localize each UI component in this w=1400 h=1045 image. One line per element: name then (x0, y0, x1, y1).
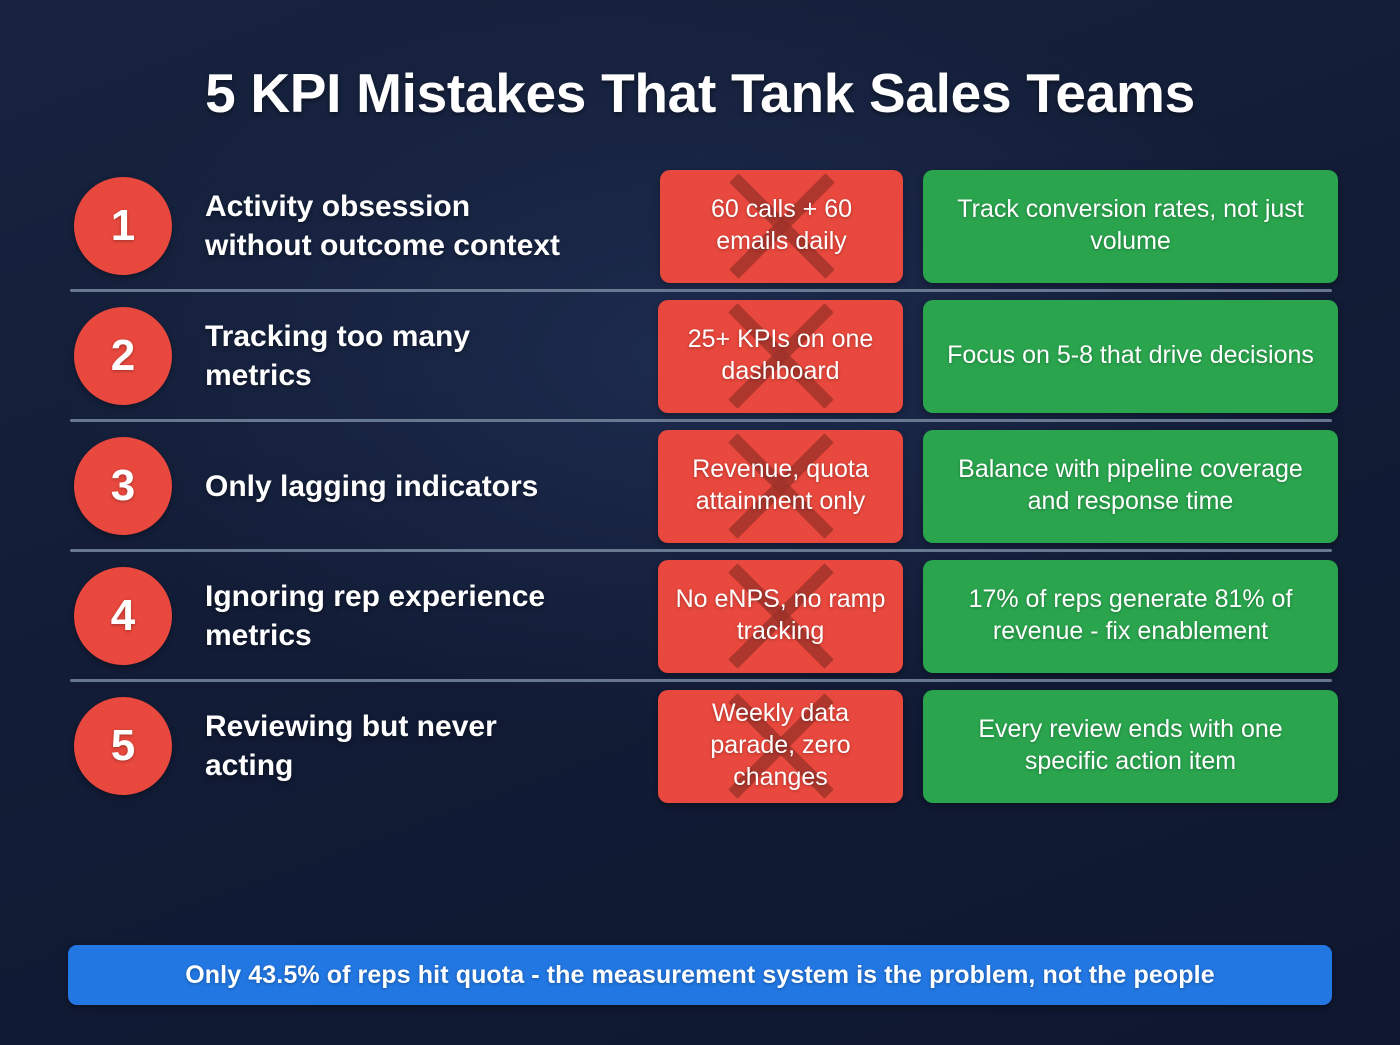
mistake-title-4: Ignoring rep experience metrics (205, 577, 585, 655)
mistake-title-1: Activity obsession without outcome conte… (205, 187, 585, 265)
good-practice-card-2: Focus on 5-8 that drive decisions (923, 300, 1338, 413)
bad-practice-card-5: Weekly data parade, zero changes (658, 690, 903, 803)
rank-badge-2: 2 (74, 307, 172, 405)
bad-practice-text: 60 calls + 60 emails daily (676, 194, 887, 258)
footer-text: Only 43.5% of reps hit quota - the measu… (185, 961, 1214, 990)
mistake-row: 2 Tracking too many metrics 25+ KPIs on … (62, 291, 1338, 421)
footer-banner: Only 43.5% of reps hit quota - the measu… (68, 945, 1332, 1005)
good-practice-text: Every review ends with one specific acti… (939, 714, 1322, 778)
good-practice-text: Focus on 5-8 that drive decisions (947, 340, 1314, 372)
rank-badge-4: 4 (74, 567, 172, 665)
mistake-row: 1 Activity obsession without outcome con… (62, 161, 1338, 291)
rank-badge-5: 5 (74, 697, 172, 795)
good-practice-card-4: 17% of reps generate 81% of revenue - fi… (923, 560, 1338, 673)
mistakes-list: 1 Activity obsession without outcome con… (62, 161, 1338, 811)
rank-number: 4 (111, 591, 135, 641)
rank-badge-3: 3 (74, 437, 172, 535)
good-practice-card-1: Track conversion rates, not just volume (923, 170, 1338, 283)
infographic-page: 5 KPI Mistakes That Tank Sales Teams 1 A… (0, 0, 1400, 1045)
mistake-row: 4 Ignoring rep experience metrics No eNP… (62, 551, 1338, 681)
rank-number: 5 (111, 721, 135, 771)
comparison-cards-5: Weekly data parade, zero changes Every r… (585, 681, 1338, 811)
comparison-cards-3: Revenue, quota attainment only Balance w… (585, 421, 1338, 551)
good-practice-text: 17% of reps generate 81% of revenue - fi… (939, 584, 1322, 648)
good-practice-text: Balance with pipeline coverage and respo… (939, 454, 1322, 518)
bad-practice-text: 25+ KPIs on one dashboard (674, 324, 887, 388)
bad-practice-card-2: 25+ KPIs on one dashboard (658, 300, 903, 413)
rank-badge-1: 1 (74, 177, 172, 275)
page-title: 5 KPI Mistakes That Tank Sales Teams (62, 0, 1338, 121)
good-practice-card-3: Balance with pipeline coverage and respo… (923, 430, 1338, 543)
comparison-cards-2: 25+ KPIs on one dashboard Focus on 5-8 t… (585, 291, 1338, 421)
mistake-row: 3 Only lagging indicators Revenue, quota… (62, 421, 1338, 551)
bad-practice-card-1: 60 calls + 60 emails daily (660, 170, 903, 283)
rank-number: 1 (111, 201, 135, 251)
comparison-cards-1: 60 calls + 60 emails daily Track convers… (585, 161, 1338, 291)
bad-practice-card-3: Revenue, quota attainment only (658, 430, 903, 543)
rank-number: 2 (111, 331, 135, 381)
mistake-title-5: Reviewing but never acting (205, 707, 585, 785)
bad-practice-text: No eNPS, no ramp tracking (674, 584, 887, 648)
comparison-cards-4: No eNPS, no ramp tracking 17% of reps ge… (585, 551, 1338, 681)
mistake-title-3: Only lagging indicators (205, 467, 585, 506)
mistake-title-2: Tracking too many metrics (205, 317, 585, 395)
rank-number: 3 (111, 461, 135, 511)
good-practice-text: Track conversion rates, not just volume (939, 194, 1322, 258)
bad-practice-text: Weekly data parade, zero changes (674, 698, 887, 793)
bad-practice-text: Revenue, quota attainment only (674, 454, 887, 518)
good-practice-card-5: Every review ends with one specific acti… (923, 690, 1338, 803)
mistake-row: 5 Reviewing but never acting Weekly data… (62, 681, 1338, 811)
bad-practice-card-4: No eNPS, no ramp tracking (658, 560, 903, 673)
